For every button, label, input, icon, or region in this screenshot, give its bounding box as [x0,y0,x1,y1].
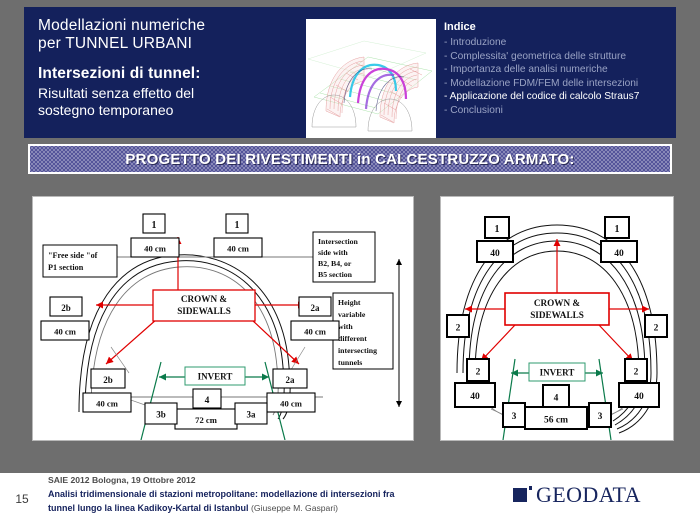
label-invert-center-left: 4 72 cm [175,389,237,429]
svg-text:3: 3 [598,412,603,422]
label-invert-haunch-left-right-panel: 3 [503,403,525,427]
svg-text:4: 4 [205,396,210,406]
page-number: 15 [10,492,34,506]
svg-text:variable: variable [338,310,366,319]
svg-text:with: with [338,322,353,331]
index-item-applicazione[interactable]: - Applicazione del codice di calcolo Str… [444,90,668,104]
tunnel-section-diagram-right: CROWN & SIDEWALLS INVERT 1 40 [441,197,673,440]
section-banner-inner: PROGETTO DEI RIVESTIMENTI in CALCESTRUZZ… [30,146,670,172]
label-side-lower-left-right-panel: 2 40 [455,359,495,407]
svg-text:2: 2 [634,368,639,378]
label-side-upper-left: 2b 40 cm [41,297,89,340]
footer-divider [0,466,700,473]
svg-text:40: 40 [470,392,480,402]
footer: 15 SAIE 2012 Bologna, 19 Ottobre 2012 An… [0,466,700,525]
svg-text:different: different [338,334,367,343]
note-free-side-left: "Free side "of P1 section [43,245,117,277]
svg-text:tunnels: tunnels [338,358,362,367]
svg-text:2: 2 [654,324,659,334]
note-intersection-left: Intersection side with B2, B4, or B5 sec… [313,232,375,282]
svg-text:56 cm: 56 cm [544,416,568,426]
label-invert-center-right: 4 56 cm [525,385,587,429]
svg-text:1: 1 [235,220,240,231]
label-side-upper-left-right-panel: 2 [447,315,469,337]
invert-label-left: INVERT [198,372,233,382]
svg-text:40 cm: 40 cm [227,244,250,254]
footer-title-line2: tunnel lungo la linea Kadikoy-Kartal di … [48,502,478,514]
svg-text:Intersection: Intersection [318,237,359,246]
tunnel-section-diagram-left: CROWN & SIDEWALLS INVERT 1 40 cm [33,197,413,440]
svg-text:2b: 2b [61,303,71,313]
svg-text:3b: 3b [156,410,166,420]
svg-text:B2, B4, or: B2, B4, or [318,259,352,268]
crown-label-line2-right: SIDEWALLS [530,310,584,320]
svg-text:40: 40 [614,249,624,259]
tunnel-mesh-svg [306,19,436,138]
logo-tick-icon [529,486,532,490]
label-crown-top-left: 1 40 cm [131,214,179,257]
index-item-conclusioni[interactable]: - Conclusioni [444,104,668,118]
svg-text:2a: 2a [311,303,321,313]
logo-wordmark: GEODATA [536,485,641,505]
label-invert-haunch-left: 3b [145,403,177,424]
footer-author: (Giuseppe M. Gaspari) [251,503,338,513]
diagram-panel-left: CROWN & SIDEWALLS INVERT 1 40 cm [32,196,414,441]
section-banner-label: PROGETTO DEI RIVESTIMENTI in CALCESTRUZZ… [125,151,574,168]
label-side-lower-right: 2a 40 cm [267,369,315,412]
svg-text:intersecting: intersecting [338,346,377,355]
logo-square-icon [513,488,527,502]
crown-label-line2-left: SIDEWALLS [177,306,231,316]
svg-text:40 cm: 40 cm [304,327,327,337]
svg-text:1: 1 [152,220,157,231]
svg-text:2: 2 [456,324,461,334]
svg-text:Height: Height [338,298,361,307]
invert-label-right: INVERT [540,368,575,378]
header-panel: Modellazioni numeriche per TUNNEL URBANI… [24,7,676,138]
header-subtitle-line1: Risultati senza effetto del [38,85,288,102]
svg-text:2: 2 [476,368,481,378]
svg-text:3: 3 [512,412,517,422]
label-side-upper-right: 2a 40 cm [291,297,339,340]
geodata-logo: GEODATA [513,485,641,505]
svg-text:40 cm: 40 cm [96,399,119,409]
label-invert-haunch-right-right-panel: 3 [589,403,611,427]
note-height-left: Height variable with different intersect… [333,293,393,369]
svg-text:"Free side "of: "Free side "of [48,251,98,260]
svg-text:1: 1 [615,224,620,235]
svg-text:3a: 3a [247,410,257,420]
label-crown-top-right: 1 40 cm [214,214,262,257]
index-panel: Indice - Introduzione - Complessita' geo… [444,21,668,118]
label-invert-haunch-right: 3a [235,403,267,424]
svg-text:40: 40 [490,249,500,259]
svg-text:72 cm: 72 cm [195,415,218,425]
index-list: - Introduzione - Complessita' geometrica… [444,36,668,118]
label-side-upper-right-right-panel: 2 [645,315,667,337]
svg-text:2a: 2a [286,375,296,385]
header-title-line2: per TUNNEL URBANI [38,35,288,53]
crown-label-line1-left: CROWN & [181,294,228,304]
svg-text:2b: 2b [103,375,113,385]
index-item-modellazione[interactable]: - Modellazione FDM/FEM delle intersezion… [444,77,668,91]
svg-text:40 cm: 40 cm [280,399,303,409]
svg-text:B5 section: B5 section [318,270,353,279]
footer-text-block: SAIE 2012 Bologna, 19 Ottobre 2012 Anali… [48,474,478,515]
svg-text:40: 40 [634,392,644,402]
diagram-panel-right: CROWN & SIDEWALLS INVERT 1 40 [440,196,674,441]
footer-title-line2-text: tunnel lungo la linea Kadikoy-Kartal di … [48,503,249,513]
label-side-lower-left: 2b 40 cm [83,369,131,412]
svg-text:P1 section: P1 section [48,263,84,272]
index-title: Indice [444,21,668,33]
header-subtitle-main: Intersezioni di tunnel: [38,64,288,83]
section-banner: PROGETTO DEI RIVESTIMENTI in CALCESTRUZZ… [28,144,672,174]
svg-text:40 cm: 40 cm [54,327,77,337]
index-item-complessita[interactable]: - Complessita' geometrica delle struttur… [444,50,668,64]
svg-text:side with: side with [318,248,348,257]
tunnel-mesh-thumbnail [306,19,436,138]
header-subtitle-line2: sostegno temporaneo [38,102,288,119]
header-title-line1: Modellazioni numeriche [38,17,288,35]
svg-text:40 cm: 40 cm [144,244,167,254]
index-item-importanza[interactable]: - Importanza delle analisi numeriche [444,63,668,77]
label-side-lower-right-right-panel: 2 40 [619,359,659,407]
index-item-introduzione[interactable]: - Introduzione [444,36,668,50]
svg-text:1: 1 [495,224,500,235]
footer-title-line1: Analisi tridimensionale di stazioni metr… [48,488,478,500]
footer-event: SAIE 2012 Bologna, 19 Ottobre 2012 [48,474,478,486]
svg-text:4: 4 [554,394,559,404]
header-title-block: Modellazioni numeriche per TUNNEL URBANI… [38,17,288,119]
crown-label-line1-right: CROWN & [534,298,581,308]
slide: Modellazioni numeriche per TUNNEL URBANI… [0,0,700,525]
